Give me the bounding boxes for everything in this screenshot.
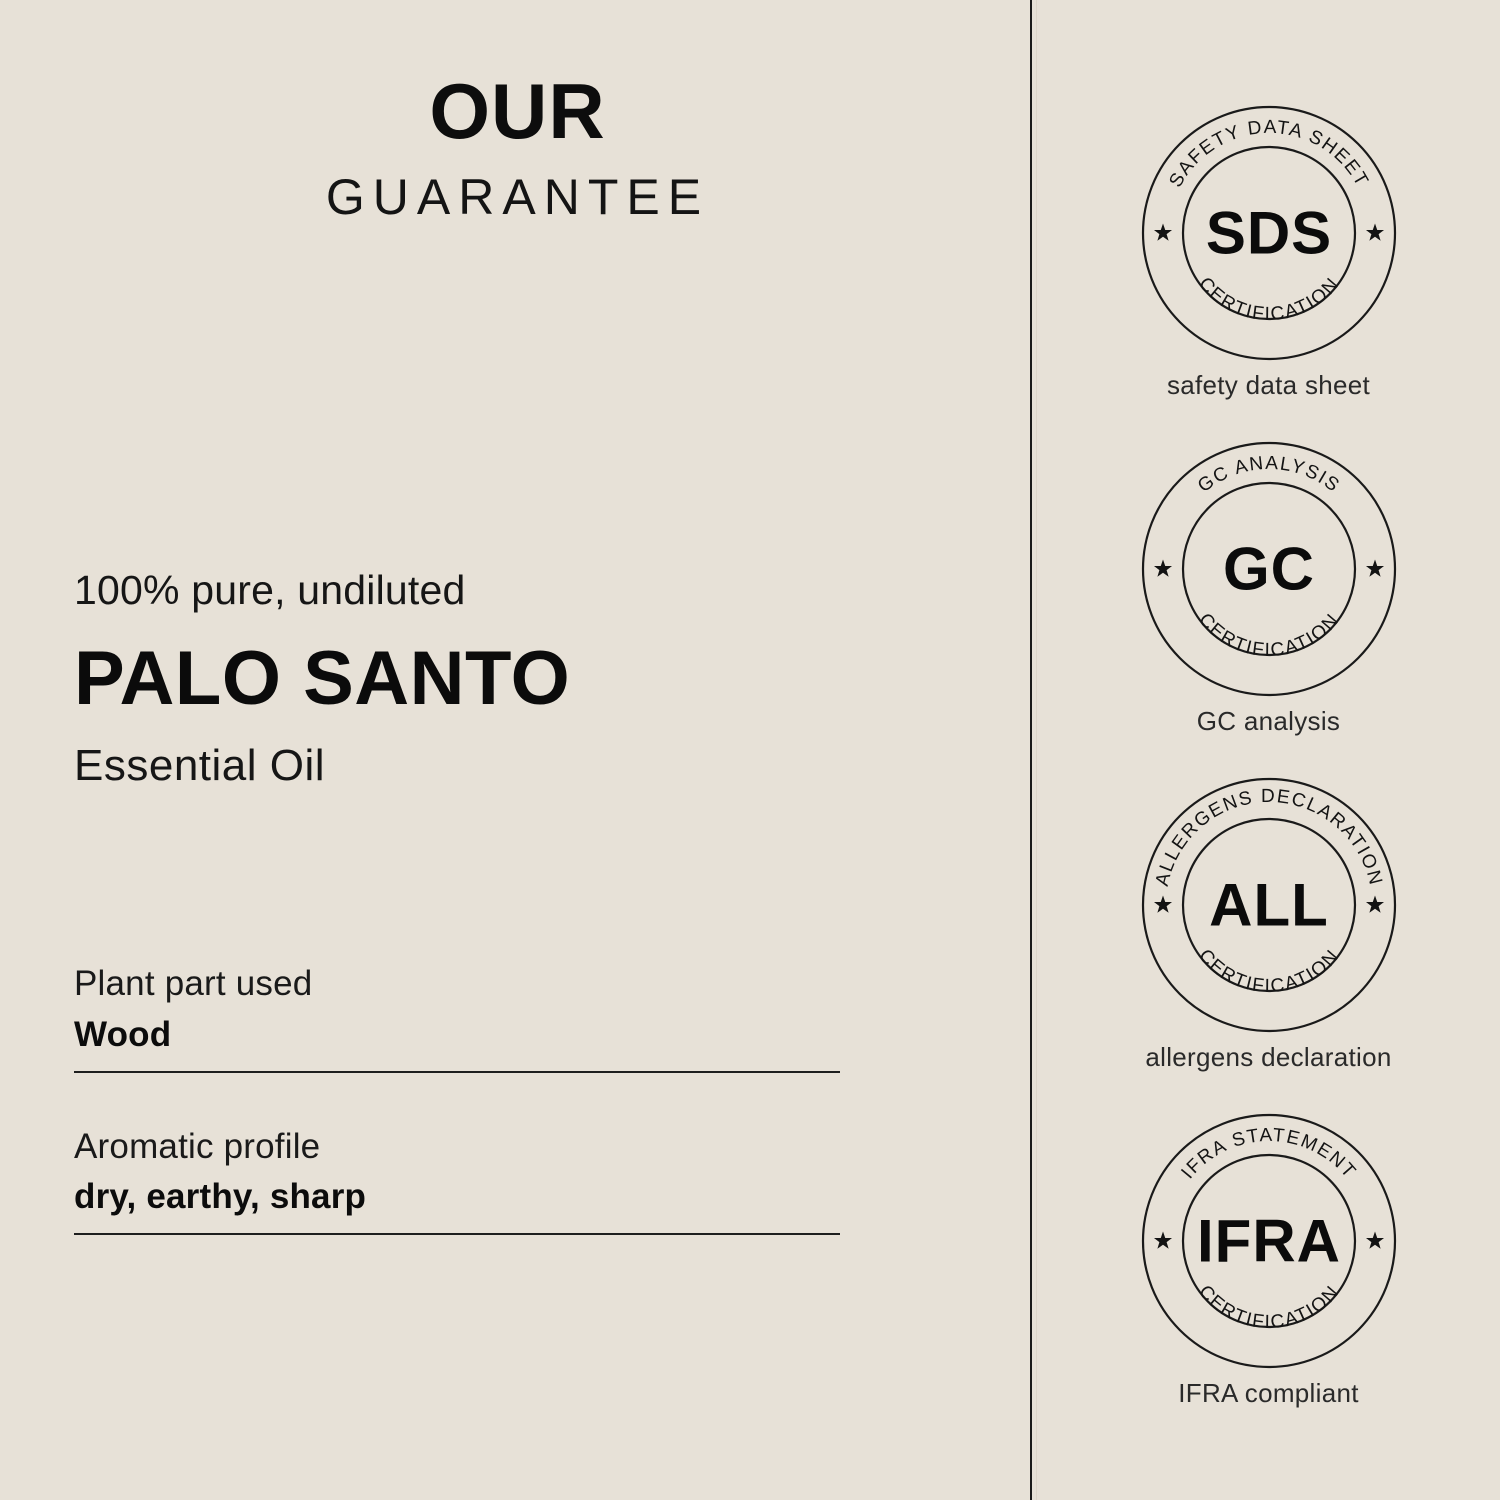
- page-title-secondary: GUARANTEE: [0, 172, 1035, 222]
- seal-abbreviation: IFRA: [1197, 1208, 1341, 1275]
- svg-text:CERTIFICATION: CERTIFICATION: [1194, 945, 1344, 997]
- certification-badges-panel: SAFETY DATA SHEET CERTIFICATION SDS safe…: [1037, 0, 1500, 1500]
- product-specifications: Plant part used Wood Aromatic profile dr…: [74, 962, 840, 1235]
- product-identity: 100% pure, undiluted PALO SANTO Essentia…: [74, 568, 924, 791]
- seal-bottom-arc-text: CERTIFICATION: [1194, 945, 1344, 997]
- guarantee-header: OUR GUARANTEE: [0, 72, 1035, 222]
- panel-divider: [1030, 0, 1032, 1500]
- star-icon-right: [1365, 224, 1383, 241]
- seal-top-arc-text: SAFETY DATA SHEET: [1165, 117, 1372, 191]
- star-icon-right: [1365, 896, 1383, 913]
- spec-label: Aromatic profile: [74, 1125, 840, 1169]
- svg-text:CERTIFICATION: CERTIFICATION: [1194, 609, 1344, 661]
- seal-icon-sds: SAFETY DATA SHEET CERTIFICATION SDS: [1140, 104, 1398, 362]
- certification-badge-gc: GC ANALYSIS CERTIFICATION GC GC analysis: [1037, 440, 1500, 737]
- certification-badge-allergens: ALLERGENS DECLARATION CERTIFICATION ALL …: [1037, 776, 1500, 1073]
- spec-label: Plant part used: [74, 962, 840, 1006]
- product-purity-claim: 100% pure, undiluted: [74, 568, 924, 613]
- star-icon-left: [1153, 224, 1171, 241]
- product-name: PALO SANTO: [74, 639, 924, 719]
- star-icon-right: [1365, 1232, 1383, 1249]
- seal-abbreviation: ALL: [1209, 872, 1329, 939]
- svg-text:GC ANALYSIS: GC ANALYSIS: [1194, 453, 1344, 497]
- spec-row: Plant part used Wood: [74, 962, 840, 1073]
- spec-value: Wood: [74, 1013, 840, 1057]
- certification-badge-ifra: IFRA STATEMENT CERTIFICATION IFRA IFRA c…: [1037, 1112, 1500, 1409]
- page-title-primary: OUR: [0, 72, 1035, 150]
- spec-value: dry, earthy, sharp: [74, 1175, 840, 1219]
- badge-caption: GC analysis: [1037, 706, 1500, 737]
- seal-bottom-arc-text: CERTIFICATION: [1194, 273, 1344, 325]
- svg-text:CERTIFICATION: CERTIFICATION: [1194, 1281, 1344, 1333]
- star-icon-left: [1153, 896, 1171, 913]
- spec-divider: [74, 1071, 840, 1073]
- seal-abbreviation: SDS: [1205, 200, 1331, 267]
- seal-icon-ifra: IFRA STATEMENT CERTIFICATION IFRA: [1140, 1112, 1398, 1370]
- badge-caption: safety data sheet: [1037, 370, 1500, 401]
- guarantee-left-panel: OUR GUARANTEE 100% pure, undiluted PALO …: [0, 0, 1030, 1500]
- svg-text:SAFETY DATA SHEET: SAFETY DATA SHEET: [1165, 117, 1372, 191]
- badge-caption: allergens declaration: [1037, 1042, 1500, 1073]
- certification-badge-sds: SAFETY DATA SHEET CERTIFICATION SDS safe…: [1037, 104, 1500, 401]
- seal-icon-gc: GC ANALYSIS CERTIFICATION GC: [1140, 440, 1398, 698]
- spec-divider: [74, 1233, 840, 1235]
- spec-row: Aromatic profile dry, earthy, sharp: [74, 1125, 840, 1236]
- seal-abbreviation: GC: [1223, 536, 1315, 603]
- badge-caption: IFRA compliant: [1037, 1378, 1500, 1409]
- seal-top-arc-text: GC ANALYSIS: [1194, 453, 1344, 497]
- product-type: Essential Oil: [74, 741, 924, 791]
- star-icon-left: [1153, 560, 1171, 577]
- star-icon-left: [1153, 1232, 1171, 1249]
- seal-bottom-arc-text: CERTIFICATION: [1194, 609, 1344, 661]
- svg-text:CERTIFICATION: CERTIFICATION: [1194, 273, 1344, 325]
- seal-icon-all: ALLERGENS DECLARATION CERTIFICATION ALL: [1140, 776, 1398, 1034]
- seal-bottom-arc-text: CERTIFICATION: [1194, 1281, 1344, 1333]
- star-icon-right: [1365, 560, 1383, 577]
